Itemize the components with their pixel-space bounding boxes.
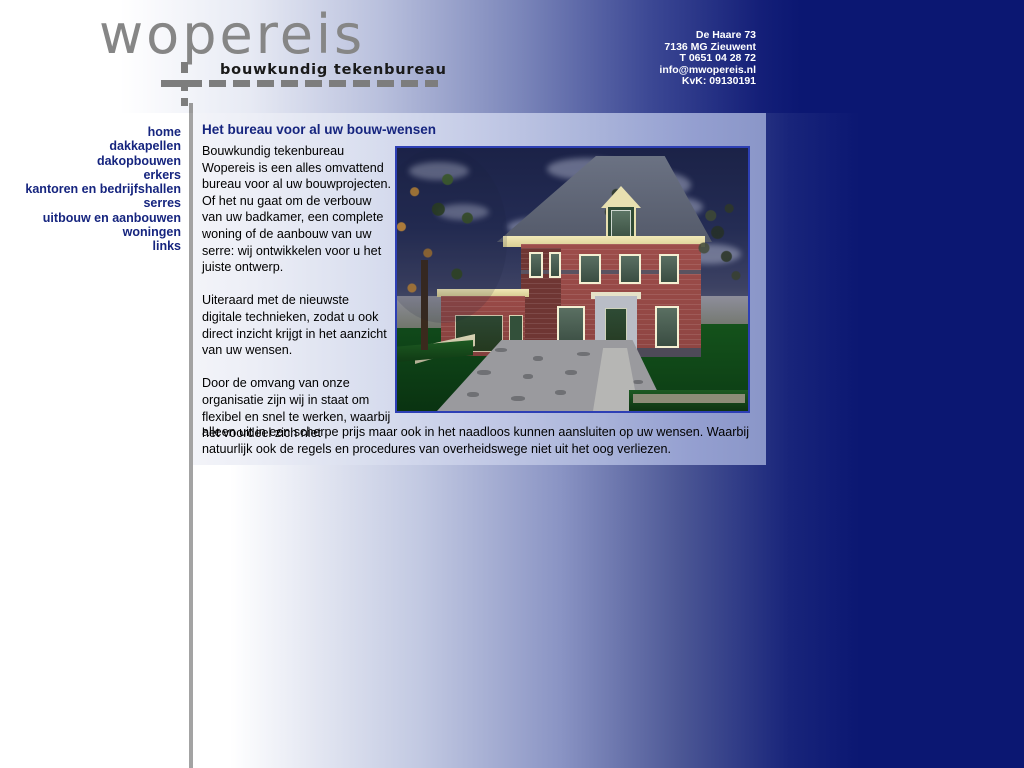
sidebar-item-serres[interactable]: serres [0, 196, 181, 210]
window-lower-2 [655, 306, 679, 348]
sidebar-item-dakkapellen[interactable]: dakkapellen [0, 139, 181, 153]
window-upper-side-1 [529, 252, 543, 278]
logo-wordmark: wopereis [99, 8, 365, 62]
fence-foreground [633, 394, 745, 403]
window-upper-3 [659, 254, 679, 284]
contact-info: De Haare 73 7136 MG Zieuwent T 0651 04 2… [659, 30, 756, 88]
house-render-illustration [397, 148, 748, 411]
logo-cross-center-icon [172, 80, 197, 87]
render-image-frame [395, 146, 750, 413]
page-root: wopereis bouwkundig tekenbureau De Haare… [0, 0, 1024, 768]
tree-right [687, 182, 748, 302]
divider-stub [189, 103, 193, 113]
sidebar-item-erkers[interactable]: erkers [0, 168, 181, 182]
sidebar-item-dakopbouwen[interactable]: dakopbouwen [0, 154, 181, 168]
logo-dashed-line-icon [161, 80, 438, 87]
sidebar-item-home[interactable]: home [0, 125, 181, 139]
sidebar-item-kantoren-en-bedrijfshallen[interactable]: kantoren en bedrijfshallen [0, 182, 181, 196]
paragraph-3-continued: alleen uit in een scherpe prijs maar ook… [202, 424, 758, 457]
paragraph-1: Bouwkundig tekenbureau Wopereis is een a… [202, 143, 392, 276]
page-title: Het bureau voor al uw bouw-wensen [202, 122, 436, 137]
contact-kvk: KvK: 09130191 [659, 76, 756, 88]
window-upper-1 [579, 254, 601, 284]
sidebar-item-woningen[interactable]: woningen [0, 225, 181, 239]
content-panel: Het bureau voor al uw bouw-wensen Bouwku… [193, 113, 766, 465]
window-upper-side-2 [549, 252, 561, 278]
sidebar-item-links[interactable]: links [0, 239, 181, 253]
window-upper-2 [619, 254, 641, 284]
site-header: wopereis bouwkundig tekenbureau De Haare… [0, 0, 1024, 113]
sidebar-nav: home dakkapellen dakopbouwen erkers kant… [0, 125, 181, 254]
contact-street: De Haare 73 [659, 30, 756, 42]
sidebar-item-uitbouw-en-aanbouwen[interactable]: uitbouw en aanbouwen [0, 211, 181, 225]
paragraph-2: Uiteraard met de nieuwste digitale techn… [202, 292, 392, 358]
logo-tagline: bouwkundig tekenbureau [220, 62, 447, 78]
dormer-window [611, 210, 631, 238]
intro-text-column: Bouwkundig tekenbureau Wopereis is een a… [202, 143, 392, 458]
